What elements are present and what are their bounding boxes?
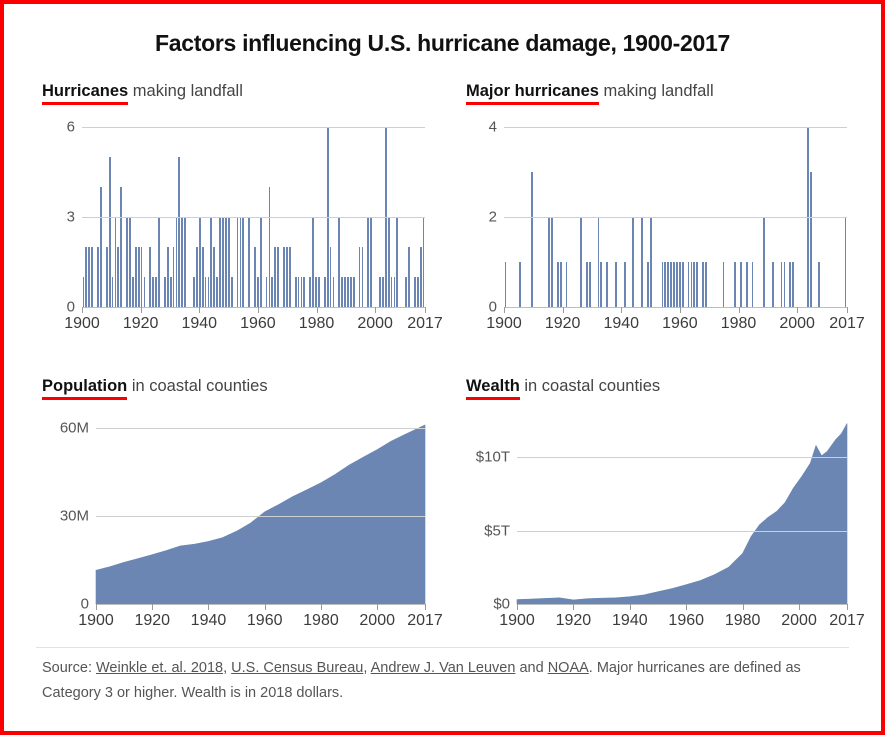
chart-population: 030M60M1900192019401960198020002017 <box>96 422 425 604</box>
bar <box>219 217 221 307</box>
bar <box>338 217 340 307</box>
bar <box>566 262 568 307</box>
bar <box>370 217 372 307</box>
x-axis-tick-label: 1980 <box>721 315 757 333</box>
bar <box>184 217 186 307</box>
x-axis-tick <box>621 307 622 313</box>
x-axis-tick-label: 1960 <box>668 612 704 630</box>
bar <box>388 217 390 307</box>
panel-wealth: Wealth in coastal counties <box>466 377 866 400</box>
bar <box>531 172 533 307</box>
x-axis-tick-label: 2000 <box>357 315 393 333</box>
x-axis-tick-label: 1920 <box>134 612 170 630</box>
x-axis-tick <box>743 604 744 610</box>
bar <box>152 277 154 307</box>
bar <box>85 247 87 307</box>
x-axis-tick <box>321 604 322 610</box>
x-axis-tick <box>317 307 318 313</box>
x-axis-tick <box>504 307 505 313</box>
bar <box>379 277 381 307</box>
bar <box>696 262 698 307</box>
bar <box>792 262 794 307</box>
bar <box>632 217 634 307</box>
area-chart-svg <box>96 422 425 604</box>
x-axis-tick <box>377 604 378 610</box>
panel-hurricanes: Hurricanes making landfall <box>42 82 442 105</box>
footnote-text: Source: <box>42 660 96 676</box>
bar <box>248 217 250 307</box>
bar <box>691 262 693 307</box>
bar <box>396 217 398 307</box>
bar <box>196 247 198 307</box>
area-fill <box>517 423 847 604</box>
x-axis-tick-label: 1960 <box>662 315 698 333</box>
y-axis-tick-label: 30M <box>60 507 89 524</box>
bar <box>551 217 553 307</box>
bar <box>367 217 369 307</box>
bar <box>312 217 314 307</box>
bar <box>178 157 180 307</box>
panel-subtitle: in coastal counties <box>127 377 267 395</box>
panel-population: Population in coastal counties <box>42 377 442 400</box>
bar <box>286 247 288 307</box>
x-axis-tick <box>82 307 83 313</box>
gridline <box>96 428 425 429</box>
x-axis-tick <box>425 307 426 313</box>
x-axis-tick-label: 1900 <box>486 315 522 333</box>
x-axis-tick <box>141 307 142 313</box>
bar <box>408 247 410 307</box>
bar <box>679 262 681 307</box>
y-axis-tick-label: 6 <box>67 119 75 136</box>
x-axis-tick <box>96 604 97 610</box>
bar <box>289 247 291 307</box>
bar <box>266 277 268 307</box>
bar <box>164 277 166 307</box>
panel-title-major-hurricanes: Major hurricanes making landfall <box>466 82 866 105</box>
bar <box>641 217 643 307</box>
x-axis-tick-label: 1920 <box>556 612 592 630</box>
area-layer <box>517 422 847 604</box>
x-axis-tick-label: 1940 <box>191 612 227 630</box>
bar <box>557 262 559 307</box>
gridline <box>82 127 425 128</box>
source-footnote: Source: Weinkle et. al. 2018, U.S. Censu… <box>42 656 843 706</box>
bar <box>199 217 201 307</box>
bar <box>662 262 664 307</box>
bar <box>208 277 210 307</box>
bar <box>650 217 652 307</box>
bar <box>763 217 765 307</box>
bar <box>129 217 131 307</box>
bar <box>394 277 396 307</box>
bar <box>83 277 85 307</box>
panel-subtitle: making landfall <box>128 82 243 100</box>
bar <box>106 247 108 307</box>
bar <box>216 277 218 307</box>
gridline <box>96 516 425 517</box>
y-axis-tick-label: 0 <box>489 299 497 316</box>
x-axis-tick-label: 2000 <box>359 612 395 630</box>
area-fill <box>96 425 425 604</box>
bar <box>589 262 591 307</box>
area-layer <box>96 422 425 604</box>
x-axis-tick-label: 1900 <box>64 315 100 333</box>
panel-keyword: Wealth <box>466 377 520 400</box>
bar <box>109 157 111 307</box>
bar <box>391 277 393 307</box>
gridline <box>517 457 847 458</box>
footnote-divider <box>36 647 849 648</box>
bar <box>330 247 332 307</box>
bar <box>237 217 239 307</box>
source-link[interactable]: U.S. Census Bureau <box>231 660 363 676</box>
bar <box>260 217 262 307</box>
x-axis-tick-label: 1940 <box>181 315 217 333</box>
bar <box>781 262 783 307</box>
bar <box>315 277 317 307</box>
bar <box>505 262 507 307</box>
panel-subtitle: in coastal counties <box>520 377 660 395</box>
bar <box>615 262 617 307</box>
x-axis-tick <box>517 604 518 610</box>
bar <box>347 277 349 307</box>
bar <box>723 262 725 307</box>
x-axis-tick-label: 2017 <box>407 612 443 630</box>
bar <box>155 277 157 307</box>
x-axis: 1900192019401960198020002017 <box>96 604 425 634</box>
panel-keyword: Population <box>42 377 127 400</box>
bar <box>181 217 183 307</box>
bar <box>112 277 114 307</box>
y-axis-tick-label: 2 <box>489 209 497 226</box>
footnote-text: , <box>223 660 231 676</box>
x-axis-tick <box>847 604 848 610</box>
x-axis-tick <box>375 307 376 313</box>
bar <box>740 262 742 307</box>
bar <box>606 262 608 307</box>
x-axis-tick-label: 1920 <box>123 315 159 333</box>
x-axis-tick <box>630 604 631 610</box>
x-axis-tick-label: 2000 <box>781 612 817 630</box>
bar <box>242 217 244 307</box>
bar <box>688 262 690 307</box>
bar <box>667 262 669 307</box>
bar <box>271 277 273 307</box>
x-axis: 1900192019401960198020002017 <box>517 604 847 634</box>
bar <box>91 247 93 307</box>
bar <box>303 277 305 307</box>
bar <box>350 277 352 307</box>
bar <box>417 277 419 307</box>
x-axis-tick <box>208 604 209 610</box>
x-axis-tick <box>739 307 740 313</box>
x-axis-tick-label: 1940 <box>603 315 639 333</box>
bar <box>324 277 326 307</box>
x-axis-tick <box>152 604 153 610</box>
bar <box>420 247 422 307</box>
x-axis: 1900192019401960198020002017 <box>504 307 847 337</box>
footnote-text: and <box>515 660 547 676</box>
chart-hurricanes: 0361900192019401960198020002017 <box>82 127 425 307</box>
y-axis-tick-label: $5T <box>484 522 510 539</box>
x-axis-tick-label: 1900 <box>499 612 535 630</box>
x-axis-tick <box>847 307 848 313</box>
bar <box>673 262 675 307</box>
bar <box>789 262 791 307</box>
panel-major-hurricanes: Major hurricanes making landfall <box>466 82 866 105</box>
bar <box>600 262 602 307</box>
x-axis-tick <box>199 307 200 313</box>
bar <box>586 262 588 307</box>
bar <box>784 262 786 307</box>
bar <box>100 187 102 307</box>
bar <box>173 247 175 307</box>
bar <box>682 262 684 307</box>
gridline <box>504 127 847 128</box>
bar <box>598 217 600 307</box>
bar <box>705 262 707 307</box>
bar <box>318 277 320 307</box>
area-chart-svg <box>517 422 847 604</box>
bar <box>693 262 695 307</box>
bar <box>301 277 303 307</box>
x-axis-tick-label: 2017 <box>407 315 443 333</box>
bar <box>170 277 172 307</box>
bar <box>126 217 128 307</box>
bar <box>548 217 550 307</box>
panel-title-population: Population in coastal counties <box>42 377 442 400</box>
gridline <box>504 217 847 218</box>
bar <box>277 247 279 307</box>
x-axis-tick <box>265 604 266 610</box>
bar <box>257 277 259 307</box>
bar <box>362 247 364 307</box>
bar <box>167 247 169 307</box>
source-link[interactable]: Andrew J. Van Leuven <box>371 660 516 676</box>
gridline <box>82 217 425 218</box>
bar <box>202 247 204 307</box>
bar <box>309 277 311 307</box>
chart-wealth: $0$5T$10T1900192019401960198020002017 <box>517 422 847 604</box>
panel-title-hurricanes: Hurricanes making landfall <box>42 82 442 105</box>
infographic-frame: Factors influencing U.S. hurricane damag… <box>0 0 885 735</box>
bar <box>702 262 704 307</box>
bar <box>158 217 160 307</box>
x-axis-tick-label: 1980 <box>303 612 339 630</box>
x-axis-tick <box>686 604 687 610</box>
bar <box>117 247 119 307</box>
bar <box>132 277 134 307</box>
footnote-text: , <box>363 660 370 676</box>
bar <box>222 217 224 307</box>
bar <box>746 262 748 307</box>
bar <box>423 217 425 307</box>
bar <box>333 277 335 307</box>
panel-keyword: Hurricanes <box>42 82 128 105</box>
bar <box>670 262 672 307</box>
bar <box>624 262 626 307</box>
bar <box>734 262 736 307</box>
panel-keyword: Major hurricanes <box>466 82 599 105</box>
x-axis-tick-label: 1960 <box>247 612 283 630</box>
bar <box>560 262 562 307</box>
bar <box>772 262 774 307</box>
bar <box>359 247 361 307</box>
x-axis-tick <box>573 604 574 610</box>
x-axis-tick-label: 1980 <box>725 612 761 630</box>
bar <box>295 277 297 307</box>
y-axis-tick-label: 0 <box>81 596 89 613</box>
x-axis-tick-label: 1920 <box>545 315 581 333</box>
bar <box>664 262 666 307</box>
bar <box>115 217 117 307</box>
x-axis-tick <box>425 604 426 610</box>
bar <box>149 247 151 307</box>
x-axis-tick-label: 2017 <box>829 612 865 630</box>
bar <box>676 262 678 307</box>
bar <box>344 277 346 307</box>
x-axis: 1900192019401960198020002017 <box>82 307 425 337</box>
bar <box>135 247 137 307</box>
bar <box>210 217 212 307</box>
x-axis-tick <box>258 307 259 313</box>
bar <box>240 217 242 307</box>
bar <box>225 217 227 307</box>
bar <box>298 277 300 307</box>
bar <box>97 247 99 307</box>
bar <box>519 262 521 307</box>
infographic-body: Factors influencing U.S. hurricane damag… <box>4 4 881 731</box>
x-axis-tick <box>680 307 681 313</box>
bar <box>283 247 285 307</box>
bar <box>845 217 847 307</box>
y-axis-tick-label: $10T <box>476 449 510 466</box>
y-axis-tick-label: 60M <box>60 419 89 436</box>
y-axis-tick-label: 0 <box>67 299 75 316</box>
bar <box>228 217 230 307</box>
bar <box>752 262 754 307</box>
gridline <box>517 531 847 532</box>
bar <box>141 247 143 307</box>
x-axis-tick <box>799 604 800 610</box>
source-link[interactable]: NOAA <box>548 660 589 676</box>
x-axis-tick-label: 1980 <box>299 315 335 333</box>
bar <box>414 277 416 307</box>
bar <box>353 277 355 307</box>
x-axis-tick <box>563 307 564 313</box>
bar <box>176 217 178 307</box>
y-axis-tick-label: $0 <box>493 596 510 613</box>
bar <box>213 247 215 307</box>
bar <box>382 277 384 307</box>
bar <box>818 262 820 307</box>
panel-title-wealth: Wealth in coastal counties <box>466 377 866 400</box>
y-axis-tick-label: 3 <box>67 209 75 226</box>
bar <box>254 247 256 307</box>
bar <box>274 247 276 307</box>
chart-major-hurricanes: 0241900192019401960198020002017 <box>504 127 847 307</box>
x-axis-tick-label: 2000 <box>779 315 815 333</box>
bar <box>144 277 146 307</box>
bar <box>205 277 207 307</box>
bar <box>88 247 90 307</box>
bar <box>647 262 649 307</box>
bar <box>341 277 343 307</box>
bar <box>138 247 140 307</box>
x-axis-tick <box>797 307 798 313</box>
bar <box>193 277 195 307</box>
x-axis-tick-label: 1960 <box>240 315 276 333</box>
y-axis-tick-label: 4 <box>489 119 497 136</box>
bar <box>405 277 407 307</box>
bar <box>120 187 122 307</box>
bar <box>810 172 812 307</box>
x-axis-tick-label: 1900 <box>78 612 114 630</box>
panel-subtitle: making landfall <box>599 82 714 100</box>
source-link[interactable]: Weinkle et. al. 2018 <box>96 660 223 676</box>
page-title: Factors influencing U.S. hurricane damag… <box>4 30 881 57</box>
bar <box>269 187 271 307</box>
x-axis-tick-label: 2017 <box>829 315 865 333</box>
bar <box>231 277 233 307</box>
x-axis-tick-label: 1940 <box>612 612 648 630</box>
bar <box>580 217 582 307</box>
